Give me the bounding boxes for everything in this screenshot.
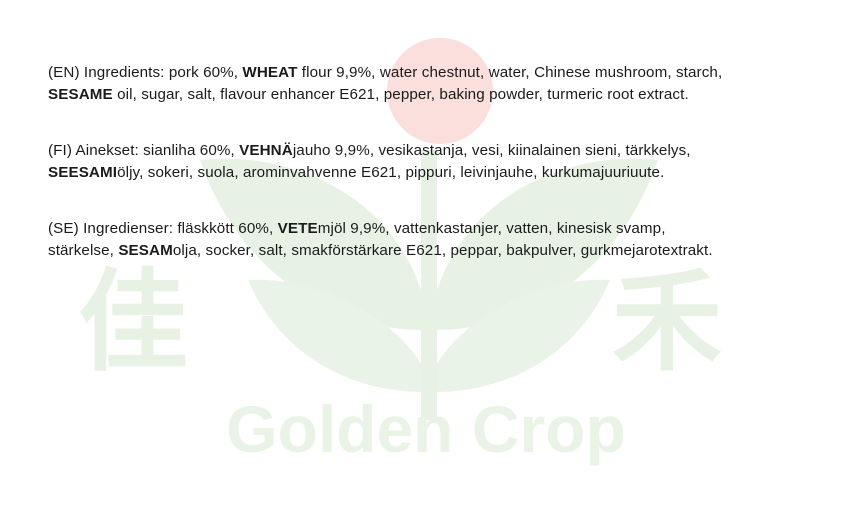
ingredients-block-fi: (FI) Ainekset: sianliha 60%, VEHNÄjauho … <box>48 140 838 184</box>
ingredients-en-mid: flour 9,9%, water chestnut, water, Chine… <box>297 64 722 81</box>
allergen-sesam: SESAM <box>118 242 173 259</box>
right-lower-leaf-shape <box>432 280 610 392</box>
left-lower-leaf-shape <box>248 280 426 392</box>
ingredients-block-se: (SE) Ingredienser: fläskkött 60%, VETEmj… <box>48 218 838 262</box>
allergen-vete: VETE <box>278 220 318 237</box>
ingredients-text-container: (EN) Ingredients: pork 60%, WHEAT flour … <box>48 62 838 262</box>
allergen-vehna: VEHNÄ <box>239 142 293 159</box>
ingredients-block-en: (EN) Ingredients: pork 60%, WHEAT flour … <box>48 62 838 106</box>
brand-wordmark-text: Golden Crop <box>226 392 626 466</box>
allergen-sesame-en: SESAME <box>48 86 113 103</box>
allergen-wheat: WHEAT <box>242 64 297 81</box>
ingredient-label-page: 佳 禾 Golden Crop (EN) Ingredients: pork 6… <box>0 0 852 525</box>
ingredients-se-prefix: (SE) Ingredienser: fläskkött 60%, <box>48 220 278 237</box>
ingredients-en-suffix: oil, sugar, salt, flavour enhancer E621,… <box>113 86 689 103</box>
cjk-left-character: 佳 <box>78 258 188 386</box>
cjk-right-character: 禾 <box>612 258 722 386</box>
ingredients-fi-mid: jauho 9,9%, vesikastanja, vesi, kiinalai… <box>293 142 691 159</box>
ingredients-fi-prefix: (FI) Ainekset: sianliha 60%, <box>48 142 239 159</box>
ingredients-en-prefix: (EN) Ingredients: pork 60%, <box>48 64 242 81</box>
ingredients-fi-suffix: öljy, sokeri, suola, arominvahvenne E621… <box>117 164 664 181</box>
ingredients-se-suffix: olja, socker, salt, smakförstärkare E621… <box>173 242 713 259</box>
allergen-seesami: SEESAMI <box>48 164 117 181</box>
